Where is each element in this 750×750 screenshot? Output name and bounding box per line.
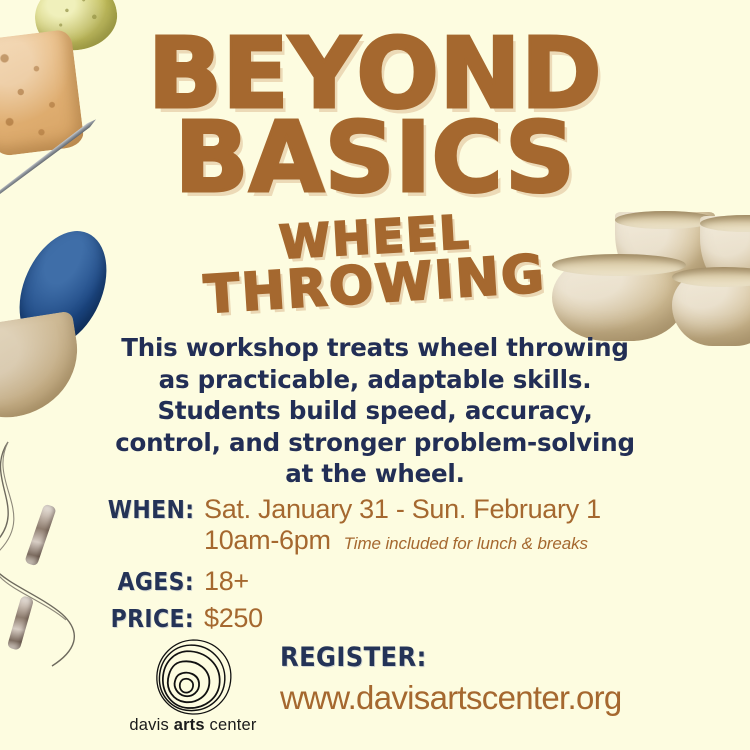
title-line-2: BASICS [0, 118, 750, 198]
when-label: WHEN: [108, 495, 194, 524]
when-value: Sat. January 31 - Sun. February 1 [204, 494, 601, 525]
subtitle: WHEEL THROWING [0, 216, 750, 310]
price-value: $250 [204, 603, 263, 634]
register-url-link[interactable]: www.davisartscenter.org [280, 679, 622, 717]
ages-label: AGES: [108, 567, 194, 596]
poster-canvas: BEYOND BASICS WHEEL THROWING This worksh… [0, 0, 750, 750]
register-label: REGISTER: [280, 642, 587, 673]
logo-word-part2: center [205, 716, 257, 734]
register-block: REGISTER: www.davisartscenter.org [280, 642, 622, 717]
logo-word-part1: davis [129, 716, 173, 734]
when-note: Time included for lunch & breaks [344, 534, 588, 554]
page-title: BEYOND BASICS [0, 34, 750, 197]
detail-row-ages: AGES: 18+ [96, 566, 696, 597]
detail-row-price: PRICE: $250 [96, 603, 696, 634]
ages-value: 18+ [204, 566, 249, 597]
logo-wordmark: davis arts center [112, 716, 274, 735]
spiral-logo-icon [150, 634, 236, 720]
logo-word-bold: arts [174, 716, 205, 734]
detail-row-when: WHEN: Sat. January 31 - Sun. February 1 [96, 494, 696, 525]
when-time-value: 10am-6pm [204, 525, 331, 556]
davis-arts-center-logo: davis arts center [112, 634, 274, 735]
workshop-description: This workshop treats wheel throwing as p… [104, 332, 646, 490]
poster-footer: davis arts center REGISTER: www.davisart… [0, 632, 750, 740]
poster-content: BEYOND BASICS WHEEL THROWING This worksh… [0, 0, 750, 750]
workshop-details: WHEN: Sat. January 31 - Sun. February 1 … [96, 494, 696, 636]
detail-row-when-time: 10am-6pm Time included for lunch & break… [204, 525, 696, 556]
price-label: PRICE: [108, 604, 194, 633]
